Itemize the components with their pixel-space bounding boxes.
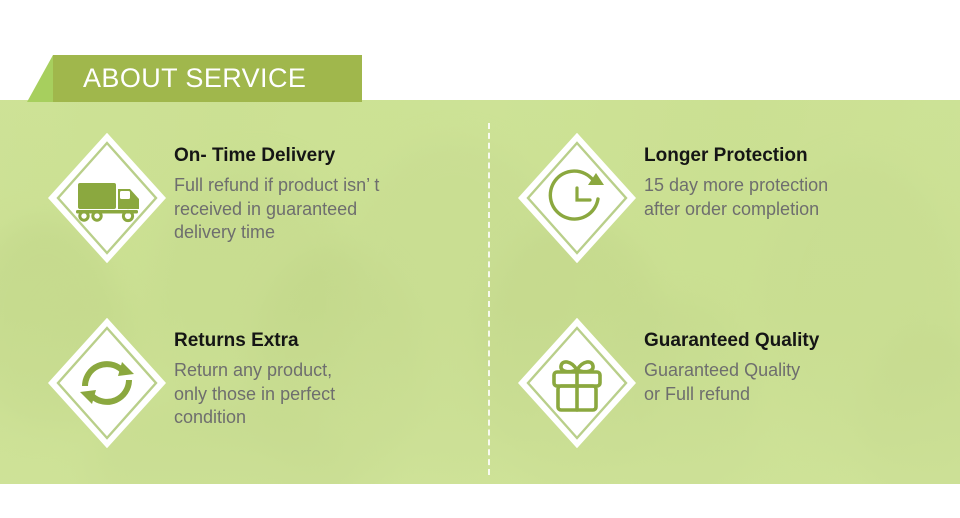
return-arrows-icon — [48, 318, 166, 448]
feature-desc-line: Guaranteed Quality — [644, 359, 819, 383]
feature-description: Full refund if product isn’ t received i… — [174, 174, 379, 245]
page-title: ABOUT SERVICE — [83, 65, 306, 92]
delivery-truck-icon — [48, 133, 166, 263]
ribbon-body-shape: ABOUT SERVICE — [53, 55, 362, 102]
feature-desc-line: Return any product, — [174, 359, 335, 383]
diamond-frame — [48, 133, 166, 263]
feature-text: Guaranteed Quality Guaranteed Quality or… — [644, 318, 819, 406]
feature-guaranteed-quality: Guaranteed Quality Guaranteed Quality or… — [518, 318, 819, 448]
feature-desc-line: Full refund if product isn’ t — [174, 174, 379, 198]
ribbon-wedge-shape — [27, 55, 53, 102]
feature-text: Longer Protection 15 day more protection… — [644, 133, 828, 221]
feature-description: Guaranteed Quality or Full refund — [644, 359, 819, 407]
column-divider — [488, 123, 490, 475]
diamond-frame — [48, 318, 166, 448]
feature-desc-line: after order completion — [644, 198, 828, 222]
feature-text: On- Time Delivery Full refund if product… — [174, 133, 379, 245]
service-banner: ABOUT SERVICE — [0, 0, 960, 518]
feature-desc-line: received in guaranteed — [174, 198, 379, 222]
feature-desc-line: only those in perfect — [174, 383, 335, 407]
gift-box-icon — [518, 318, 636, 448]
feature-desc-line: delivery time — [174, 221, 379, 245]
feature-desc-line: 15 day more protection — [644, 174, 828, 198]
feature-desc-line: or Full refund — [644, 383, 819, 407]
feature-description: 15 day more protection after order compl… — [644, 174, 828, 222]
feature-longer-protection: Longer Protection 15 day more protection… — [518, 133, 828, 263]
feature-title: Returns Extra — [174, 330, 335, 352]
feature-title: Longer Protection — [644, 145, 828, 167]
feature-text: Returns Extra Return any product, only t… — [174, 318, 335, 430]
feature-on-time-delivery: On- Time Delivery Full refund if product… — [48, 133, 379, 263]
diamond-frame — [518, 133, 636, 263]
feature-desc-line: condition — [174, 406, 335, 430]
feature-title: On- Time Delivery — [174, 145, 379, 167]
clock-refresh-icon — [518, 133, 636, 263]
feature-returns-extra: Returns Extra Return any product, only t… — [48, 318, 335, 448]
feature-description: Return any product, only those in perfec… — [174, 359, 335, 430]
section-header-ribbon: ABOUT SERVICE — [27, 55, 362, 102]
diamond-frame — [518, 318, 636, 448]
feature-title: Guaranteed Quality — [644, 330, 819, 352]
